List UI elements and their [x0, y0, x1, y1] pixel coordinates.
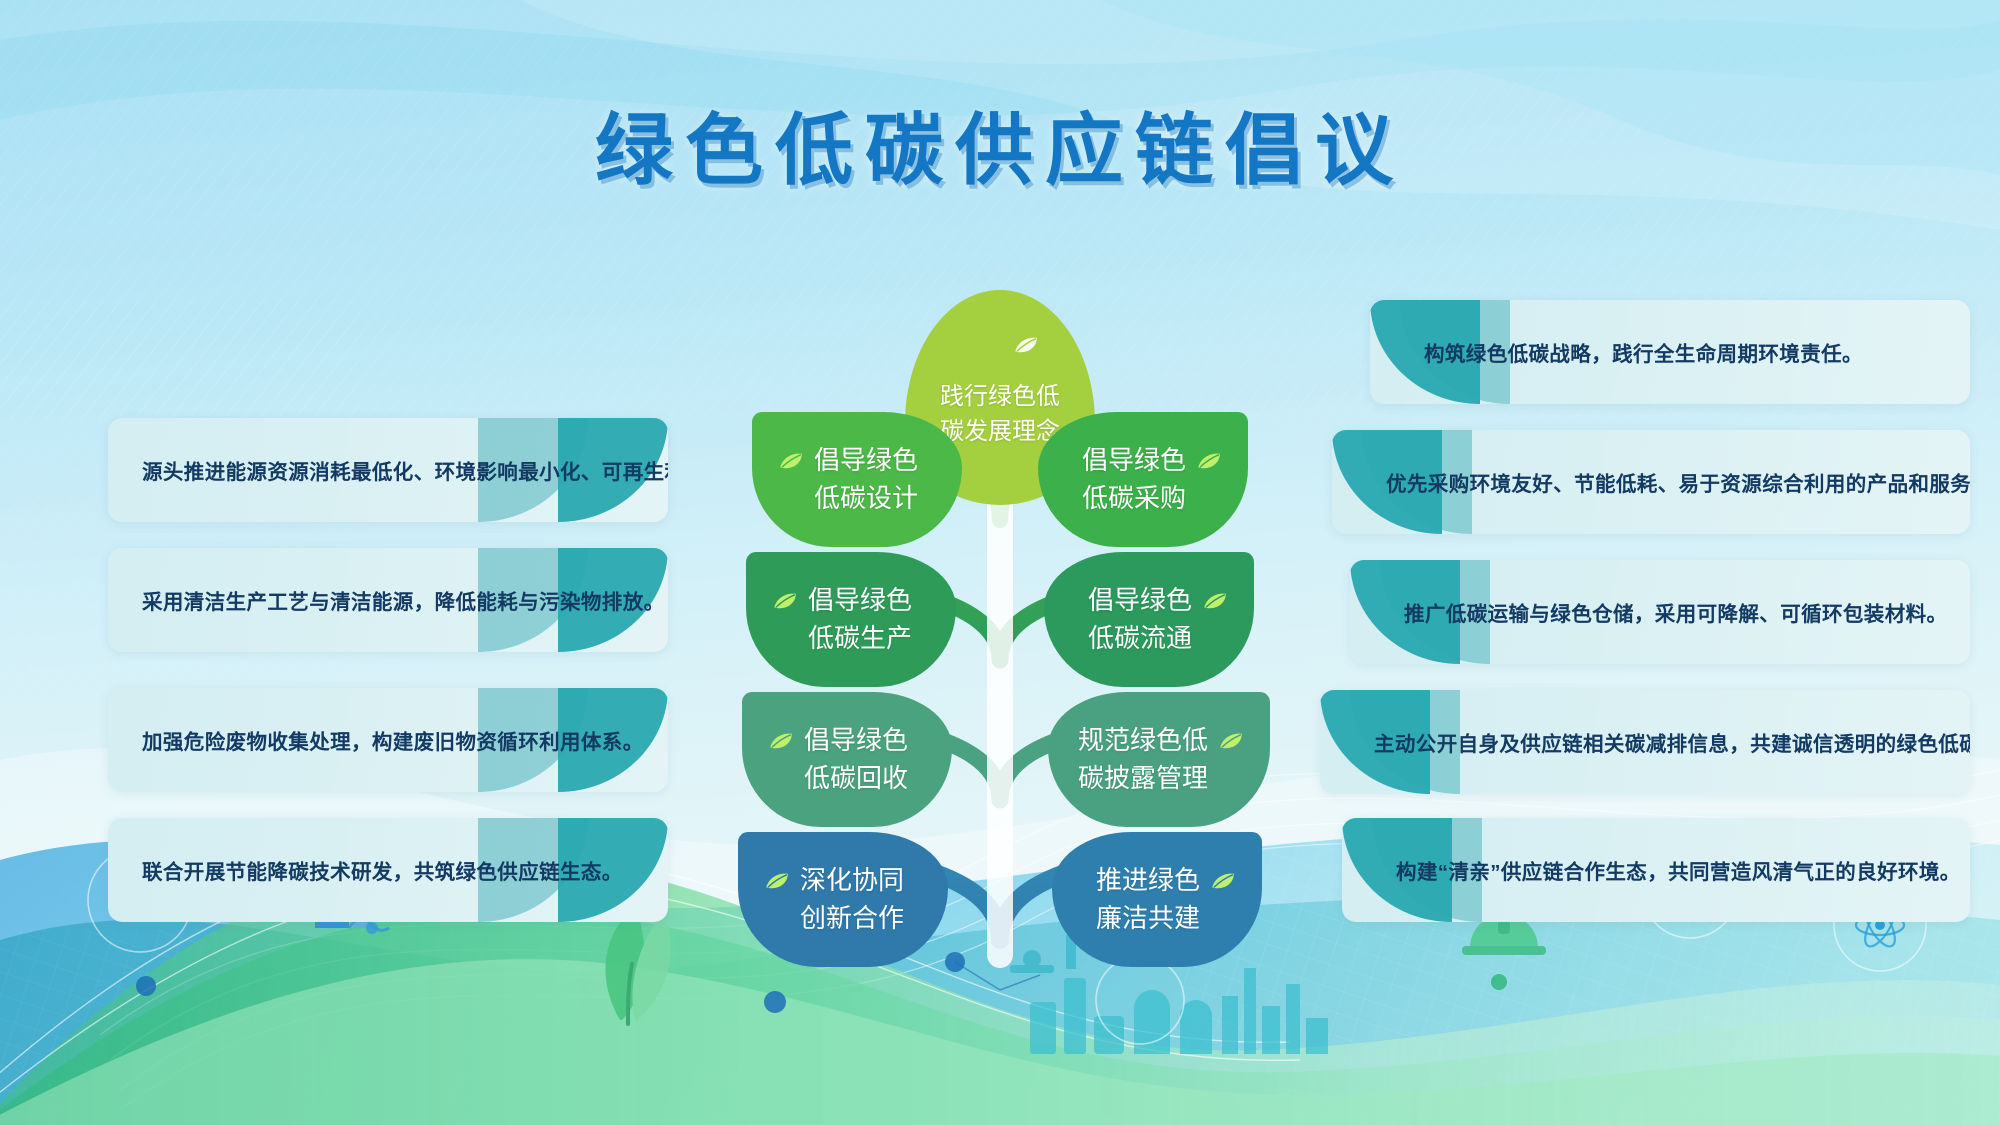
- leaf-row2-right-line1-row: 倡导绿色: [1088, 582, 1228, 620]
- leaf-row1-left-line2: 低碳设计: [778, 480, 918, 518]
- left-panel-3-text: 加强危险废物收集处理，构建废旧物资循环利用体系。: [108, 725, 644, 755]
- leaf-row2-right-line1: 倡导绿色: [1088, 582, 1192, 620]
- leaf-row4-left-line1: 深化协同: [800, 862, 904, 900]
- leaf-row3-right[interactable]: 规范绿色低 碳披露管理: [1048, 692, 1270, 827]
- left-panel-4-text: 联合开展节能降碳技术研发，共筑绿色供应链生态。: [108, 855, 623, 885]
- right-panel-4[interactable]: 主动公开自身及供应链相关碳减排信息，共建诚信透明的绿色低碳生态。: [1320, 690, 1970, 794]
- left-panel-2-text: 采用清洁生产工艺与清洁能源，降低能耗与污染物排放。: [108, 585, 665, 615]
- right-panel-5[interactable]: 构建“清亲”供应链合作生态，共同营造风清气正的良好环境。: [1342, 818, 1970, 922]
- right-panel-5-text: 构建“清亲”供应链合作生态，共同营造风清气正的良好环境。: [1342, 855, 1961, 885]
- leaf-row2-right-line2: 低碳流通: [1088, 620, 1228, 658]
- leaf-row4-left-line1-row: 深化协同: [764, 862, 904, 900]
- page-title-wrapper: 绿色低碳供应链倡议: [0, 88, 2000, 200]
- left-panel-1[interactable]: 源头推进能源资源消耗最低化、环境影响最小化、可再生利用最大化。: [108, 418, 668, 522]
- right-panel-2-text: 优先采购环境友好、节能低耗、易于资源综合利用的产品和服务。: [1332, 467, 1970, 497]
- leaf-row2-left-line1-row: 倡导绿色: [772, 582, 912, 620]
- leaf-row3-left[interactable]: 倡导绿色 低碳回收: [742, 692, 952, 827]
- leaf-row3-left-line1: 倡导绿色: [804, 722, 908, 760]
- leaf-row1-left-line1-row: 倡导绿色: [778, 442, 918, 480]
- leaf-icon: [1218, 732, 1244, 750]
- leaf-row1-right[interactable]: 倡导绿色 低碳采购: [1038, 412, 1248, 547]
- leaf-icon: [1013, 336, 1039, 354]
- leaf-row4-left[interactable]: 深化协同 创新合作: [738, 832, 948, 967]
- leaf-row1-left[interactable]: 倡导绿色 低碳设计: [752, 412, 962, 547]
- leaf-icon: [772, 592, 798, 610]
- leaf-row2-right[interactable]: 倡导绿色 低碳流通: [1044, 552, 1254, 687]
- leaf-row3-left-line2: 低碳回收: [768, 760, 908, 798]
- leaf-icon: [1196, 452, 1222, 470]
- leaf-row1-left-line1: 倡导绿色: [814, 442, 918, 480]
- leaf-row1-right-line1-row: 倡导绿色: [1082, 442, 1222, 480]
- leaf-row4-right[interactable]: 推进绿色 廉洁共建: [1052, 832, 1262, 967]
- page-title: 绿色低碳供应链倡议: [595, 88, 1405, 200]
- left-panel-1-text: 源头推进能源资源消耗最低化、环境影响最小化、可再生利用最大化。: [108, 455, 668, 485]
- leaf-row3-right-line1-row: 规范绿色低: [1078, 722, 1244, 760]
- left-panel-3[interactable]: 加强危险废物收集处理，构建废旧物资循环利用体系。: [108, 688, 668, 792]
- right-panel-3[interactable]: 推广低碳运输与绿色仓储，采用可降解、可循环包装材料。: [1350, 560, 1970, 664]
- leaf-row2-left-line1: 倡导绿色: [808, 582, 912, 620]
- leaf-row1-right-line1: 倡导绿色: [1082, 442, 1186, 480]
- leaf-row4-right-line1: 推进绿色: [1096, 862, 1200, 900]
- right-panel-1[interactable]: 构筑绿色低碳战略，践行全生命周期环境责任。: [1370, 300, 1970, 404]
- leaf-row3-right-line2: 碳披露管理: [1078, 760, 1244, 798]
- leaf-icon: [768, 732, 794, 750]
- leaf-row4-right-line2: 廉洁共建: [1096, 900, 1236, 938]
- right-panel-3-text: 推广低碳运输与绿色仓储，采用可降解、可循环包装材料。: [1350, 597, 1947, 627]
- leaf-row4-left-line2: 创新合作: [764, 900, 904, 938]
- leaf-crown-line1: 践行绿色低: [940, 380, 1060, 415]
- leaf-icon: [764, 872, 790, 890]
- leaf-row3-right-line1: 规范绿色低: [1078, 722, 1208, 760]
- left-panel-2[interactable]: 采用清洁生产工艺与清洁能源，降低能耗与污染物排放。: [108, 548, 668, 652]
- leaf-icon: [1202, 592, 1228, 610]
- leaf-row3-left-line1-row: 倡导绿色: [768, 722, 908, 760]
- left-panel-4[interactable]: 联合开展节能降碳技术研发，共筑绿色供应链生态。: [108, 818, 668, 922]
- right-panel-2[interactable]: 优先采购环境友好、节能低耗、易于资源综合利用的产品和服务。: [1332, 430, 1970, 534]
- leaf-icon: [778, 452, 804, 470]
- leaf-row2-left-line2: 低碳生产: [772, 620, 912, 658]
- right-panel-1-text: 构筑绿色低碳战略，践行全生命周期环境责任。: [1370, 337, 1863, 367]
- right-panel-4-text: 主动公开自身及供应链相关碳减排信息，共建诚信透明的绿色低碳生态。: [1320, 727, 1970, 757]
- leaf-icon: [1210, 872, 1236, 890]
- leaf-row1-right-line2: 低碳采购: [1082, 480, 1222, 518]
- leaf-crown-line2: 碳发展理念: [940, 415, 1060, 450]
- leaf-row4-right-line1-row: 推进绿色: [1096, 862, 1236, 900]
- leaf-row2-left[interactable]: 倡导绿色 低碳生产: [746, 552, 956, 687]
